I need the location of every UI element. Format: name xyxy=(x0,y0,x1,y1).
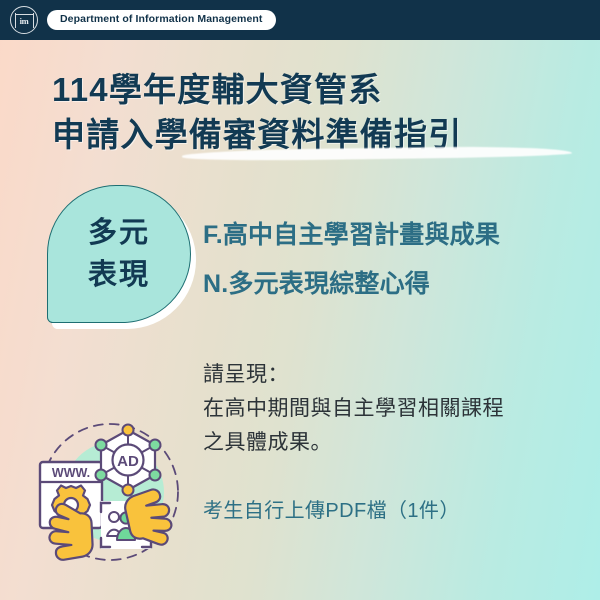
description-line: 之具體成果。 xyxy=(203,426,504,460)
requirement-item-list: F.高中自主學習計畫與成果 N.多元表現綜整心得 xyxy=(203,222,500,321)
upload-note: 考生自行上傳PDF檔（1件） xyxy=(203,494,460,523)
www-label: WWW. xyxy=(52,466,90,480)
department-label: Department of Information Management xyxy=(47,10,276,31)
requirement-item: N.多元表現綜整心得 xyxy=(203,271,500,297)
logo-monogram: im xyxy=(20,14,29,26)
category-badge: 多元 表現 xyxy=(47,185,191,323)
department-seal-icon: im xyxy=(10,6,38,34)
badge-line-1: 多元 xyxy=(88,212,150,254)
page-title: 114學年度輔大資管系 申請入學備審資料準備指引 xyxy=(52,68,572,157)
illustration-svg: WWW. AD xyxy=(22,404,198,580)
title-line-1: 114學年度輔大資管系 xyxy=(52,68,572,113)
multiple-performance-illustration: WWW. AD xyxy=(22,404,198,580)
badge-line-2: 表現 xyxy=(88,254,150,296)
poster-canvas: im Department of Information Management … xyxy=(0,0,600,600)
description-line: 請呈現： xyxy=(203,358,504,392)
requirement-item: F.高中自主學習計畫與成果 xyxy=(203,222,500,248)
description-line: 在高中期間與自主學習相關課程 xyxy=(203,392,504,426)
description-block: 請呈現： 在高中期間與自主學習相關課程 之具體成果。 xyxy=(203,358,504,460)
ad-label: AD xyxy=(117,453,139,470)
header-bar: im Department of Information Management xyxy=(0,0,600,40)
